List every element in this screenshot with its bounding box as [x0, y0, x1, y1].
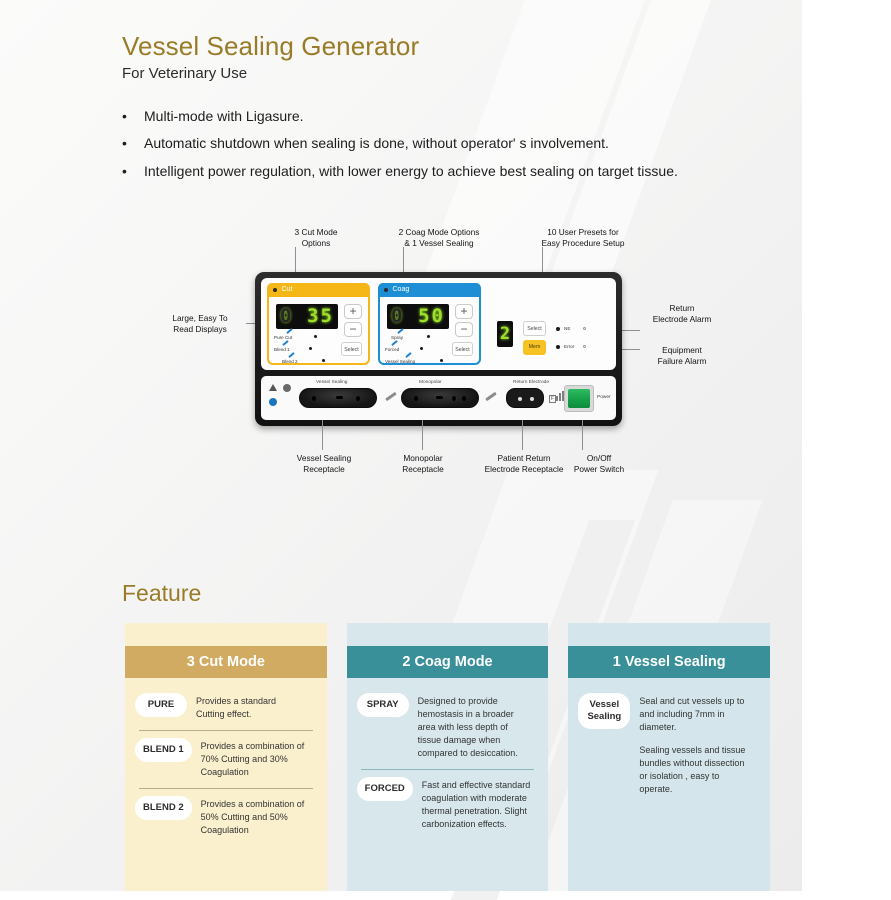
page-root: Vessel Sealing Generator For Veterinary … — [0, 0, 891, 891]
bullet-list: • Multi-mode with Ligasure. • Automatic … — [122, 106, 762, 188]
power-switch[interactable] — [564, 385, 594, 412]
mode-pill: BLEND 1 — [135, 738, 192, 762]
bullet-icon: • — [122, 106, 144, 126]
callout-cut-mode: 3 Cut Mode Options — [270, 227, 362, 249]
ne-led-icon — [556, 327, 560, 331]
callout-monopolar-receptacle: Monopolar Receptacle — [378, 453, 468, 475]
blade-icon — [391, 340, 398, 346]
feature-section-title: Feature — [122, 580, 201, 607]
coag-mode-forced[interactable]: Forced — [385, 347, 399, 352]
bullet-icon: • — [122, 161, 144, 181]
coag-select-button[interactable]: Select — [452, 342, 473, 356]
list-item: • Multi-mode with Ligasure. — [122, 106, 762, 126]
mode-description: Provides a standard Cutting effect. — [196, 693, 276, 721]
error-led-icon — [556, 345, 560, 349]
mode-description: Provides a combination of 50% Cutting an… — [201, 796, 305, 837]
coag-mode-label: Spray — [391, 335, 403, 340]
coag-display: 50 — [387, 304, 449, 329]
bullet-icon: • — [122, 133, 144, 153]
cut-mode-label: Blend 1 — [274, 347, 290, 352]
cut-mode-label: Pure Cut — [274, 335, 292, 340]
port-hole-icon — [312, 396, 316, 401]
coag-increase-button[interactable]: + — [455, 304, 473, 319]
list-item-text: Multi-mode with Ligasure. — [144, 106, 304, 126]
warning-triangle-icon — [269, 384, 277, 391]
coag-mode-led-icon — [427, 335, 430, 338]
mode-pill: FORCED — [357, 777, 413, 801]
monopolar-receptacle[interactable] — [401, 388, 479, 408]
port-hole-icon — [356, 396, 360, 401]
coag-mode-led-icon — [440, 359, 443, 362]
leader-line — [322, 420, 323, 450]
list-item: • Automatic shutdown when sealing is don… — [122, 133, 762, 153]
coag-panel-label: Coag — [393, 286, 410, 293]
coag-mode-spray[interactable]: Spray — [385, 335, 403, 340]
leader-line — [403, 247, 404, 275]
mode-description: Fast and effective standard coagulation … — [422, 777, 530, 831]
card-body: Vessel Sealing Seal and cut vessels up t… — [568, 678, 770, 805]
callout-presets: 10 User Presets for Easy Procedure Setup — [518, 227, 648, 249]
ne-alarm-label: NE — [564, 326, 570, 331]
cut-display: 35 — [276, 304, 338, 329]
cut-mode-led-icon — [309, 347, 312, 350]
cut-decrease-button[interactable]: − — [344, 322, 362, 337]
return-electrode-receptacle[interactable] — [506, 388, 544, 408]
card-top-accent — [125, 623, 327, 646]
mode-description: Designed to provide hemostasis in a broa… — [418, 693, 518, 760]
card-heading: 2 Coag Mode — [347, 646, 549, 678]
page-title: Vessel Sealing Generator — [122, 32, 419, 62]
card-top-accent — [347, 623, 549, 646]
coag-led-icon — [384, 288, 388, 292]
page-subtitle: For Veterinary Use — [122, 65, 419, 82]
card-top-accent — [568, 623, 770, 646]
feature-card-vessel-sealing: 1 Vessel Sealing Vessel Sealing Seal and… — [568, 623, 770, 891]
cut-mode-led-icon — [314, 335, 317, 338]
coag-mode-label: Forced — [385, 347, 399, 352]
cut-panel: Cut 35 + − Select Pure Cut Blend 1 — [267, 283, 370, 365]
card-body: PURE Provides a standard Cutting effect.… — [125, 678, 327, 846]
ne-leader-point — [583, 327, 586, 330]
list-item-text: Automatic shutdown when sealing is done,… — [144, 133, 609, 153]
leader-line — [522, 420, 523, 450]
callout-return-alarm: Return Electrode Alarm — [628, 303, 736, 325]
cut-select-button[interactable]: Select — [341, 342, 362, 356]
coag-panel: Coag 50 + − Select Spray Forced — [378, 283, 481, 365]
blade-icon — [405, 352, 412, 358]
feature-card-list: 3 Cut Mode PURE Provides a standard Cutt… — [125, 623, 770, 891]
error-alarm-label: Error — [564, 344, 574, 349]
preset-display: 2 — [497, 321, 513, 347]
fuse-label: F — [549, 395, 556, 403]
cut-increase-button[interactable]: + — [344, 304, 362, 319]
leader-line — [422, 420, 423, 450]
status-badge-error: Error — [564, 344, 574, 349]
cut-mode-led-icon — [322, 359, 325, 362]
feature-card-cut: 3 Cut Mode PURE Provides a standard Cutt… — [125, 623, 327, 891]
iec-pin-icon — [518, 397, 522, 401]
vessel-sealing-receptacle[interactable] — [299, 388, 377, 408]
coag-mode-label: Vessel Sealing — [385, 359, 415, 364]
card-heading: 3 Cut Mode — [125, 646, 327, 678]
callout-coag-mode: 2 Coag Mode Options & 1 Vessel Sealing — [378, 227, 500, 249]
iec-pin-icon — [530, 397, 534, 401]
mode-pill: Vessel Sealing — [578, 693, 630, 729]
cut-mode-pure[interactable]: Pure Cut — [274, 335, 292, 340]
generator-chassis: Cut 35 + − Select Pure Cut Blend 1 — [255, 272, 622, 426]
cf-symbol-icon — [269, 398, 277, 406]
iso-symbol-icon — [283, 384, 291, 392]
power-label: Power — [597, 395, 611, 400]
blade-icon — [282, 340, 289, 346]
callout-power-switch: On/Off Power Switch — [552, 453, 646, 475]
port-hole-icon — [462, 396, 466, 401]
list-item: PURE Provides a standard Cutting effect. — [135, 686, 317, 730]
callout-failure-alarm: Equipment Failure Alarm — [628, 345, 736, 367]
mode-description-secondary: Sealing vessels and tissue bundles witho… — [639, 734, 745, 796]
port-hole-icon — [436, 396, 443, 399]
control-face: Cut 35 + − Select Pure Cut Blend 1 — [261, 278, 616, 370]
port-hole-icon — [414, 396, 418, 401]
return-electrode-port-label: Return Electrode — [513, 380, 549, 385]
signal-bars-icon — [556, 391, 564, 401]
cut-mode-label: Blend 2 — [282, 359, 298, 364]
leader-line — [295, 247, 296, 275]
page-header: Vessel Sealing Generator For Veterinary … — [122, 32, 419, 82]
list-item: SPRAY Designed to provide hemostasis in … — [357, 686, 539, 769]
list-item: FORCED Fast and effective standard coagu… — [357, 770, 539, 840]
error-leader-point — [583, 345, 586, 348]
leader-line — [582, 420, 583, 450]
coag-panel-header: Coag — [378, 283, 481, 297]
list-item-text: Intelligent power regulation, with lower… — [144, 161, 678, 181]
preset-select-button[interactable]: Select — [523, 321, 546, 336]
mode-pill: BLEND 2 — [135, 796, 192, 820]
cut-mode-blend2[interactable]: Blend 2 — [274, 359, 298, 364]
mode-description: Provides a combination of 70% Cutting an… — [201, 738, 305, 779]
list-item: • Intelligent power regulation, with low… — [122, 161, 762, 181]
card-heading: 1 Vessel Sealing — [568, 646, 770, 678]
feature-card-coag: 2 Coag Mode SPRAY Designed to provide he… — [347, 623, 549, 891]
electrode-icon — [485, 392, 497, 401]
cut-panel-label: Cut — [282, 286, 293, 293]
list-item: BLEND 1 Provides a combination of 70% Cu… — [135, 731, 317, 788]
cut-led-icon — [273, 288, 277, 292]
mode-pill: SPRAY — [357, 693, 409, 717]
preset-mem-button[interactable]: Mem — [523, 340, 546, 355]
list-item: BLEND 2 Provides a combination of 50% Cu… — [135, 789, 317, 846]
blade-icon — [288, 352, 295, 358]
cut-panel-header: Cut — [267, 283, 370, 297]
receptacle-strip: Vessel Sealing Monopolar Return Electrod… — [261, 376, 616, 420]
coag-decrease-button[interactable]: − — [455, 322, 473, 337]
card-body: SPRAY Designed to provide hemostasis in … — [347, 678, 549, 840]
mode-description: Seal and cut vessels up to and including… — [639, 693, 745, 734]
callout-vessel-receptacle: Vessel Sealing Receptacle — [278, 453, 370, 475]
coag-mode-vessel-sealing[interactable]: Vessel Sealing — [385, 359, 415, 364]
callout-displays: Large, Easy To Read Displays — [152, 313, 248, 335]
port-hole-icon — [336, 396, 343, 399]
device-diagram: 3 Cut Mode Options 2 Coag Mode Options &… — [150, 225, 750, 510]
cut-mode-blend1[interactable]: Blend 1 — [274, 347, 290, 352]
mode-pill: PURE — [135, 693, 187, 717]
handpiece-icon — [385, 392, 397, 401]
port-hole-icon — [452, 396, 456, 401]
status-badge-ne: NE — [564, 326, 570, 331]
coag-mode-led-icon — [420, 347, 423, 350]
vessel-sealing-port-label: Vessel Sealing — [316, 380, 347, 385]
list-item: Vessel Sealing Seal and cut vessels up t… — [578, 686, 760, 805]
monopolar-port-label: Monopolar — [419, 380, 442, 385]
